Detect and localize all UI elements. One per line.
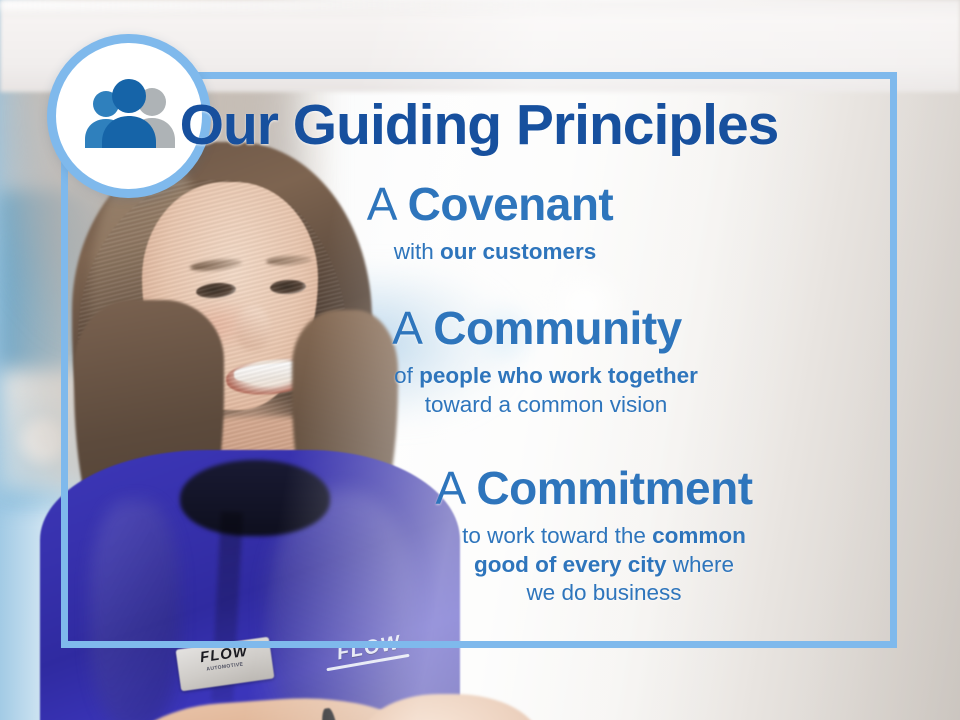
page-title: Our Guiding Principles <box>61 97 897 154</box>
principle-community-word: Community <box>433 302 682 354</box>
principle-commitment-word: Commitment <box>476 462 752 514</box>
principle-covenant-subtext: with our customers <box>61 238 897 267</box>
guiding-principles-poster: FLOW AUTOMOTIVE FLOW Our G <box>0 0 960 720</box>
desk-edge-highlight <box>0 0 595 10</box>
principle-community: A Community of people who work togethert… <box>61 304 897 419</box>
principle-covenant-title: A Covenant <box>61 180 897 229</box>
principle-community-article: A <box>392 302 433 354</box>
principle-covenant-word: Covenant <box>408 178 614 230</box>
principle-commitment: A Commitment to work toward the commongo… <box>61 464 897 608</box>
principle-covenant-article: A <box>367 178 408 230</box>
principle-community-title: A Community <box>61 304 897 353</box>
principle-commitment-subtext: to work toward the commongood of every c… <box>61 522 897 608</box>
principle-commitment-article: A <box>435 462 476 514</box>
poster-text-block: Our Guiding Principles A Covenant with o… <box>61 72 897 648</box>
principle-commitment-title: A Commitment <box>61 464 897 513</box>
principle-community-subtext: of people who work togethertoward a comm… <box>61 362 897 420</box>
principle-covenant: A Covenant with our customers <box>61 180 897 267</box>
